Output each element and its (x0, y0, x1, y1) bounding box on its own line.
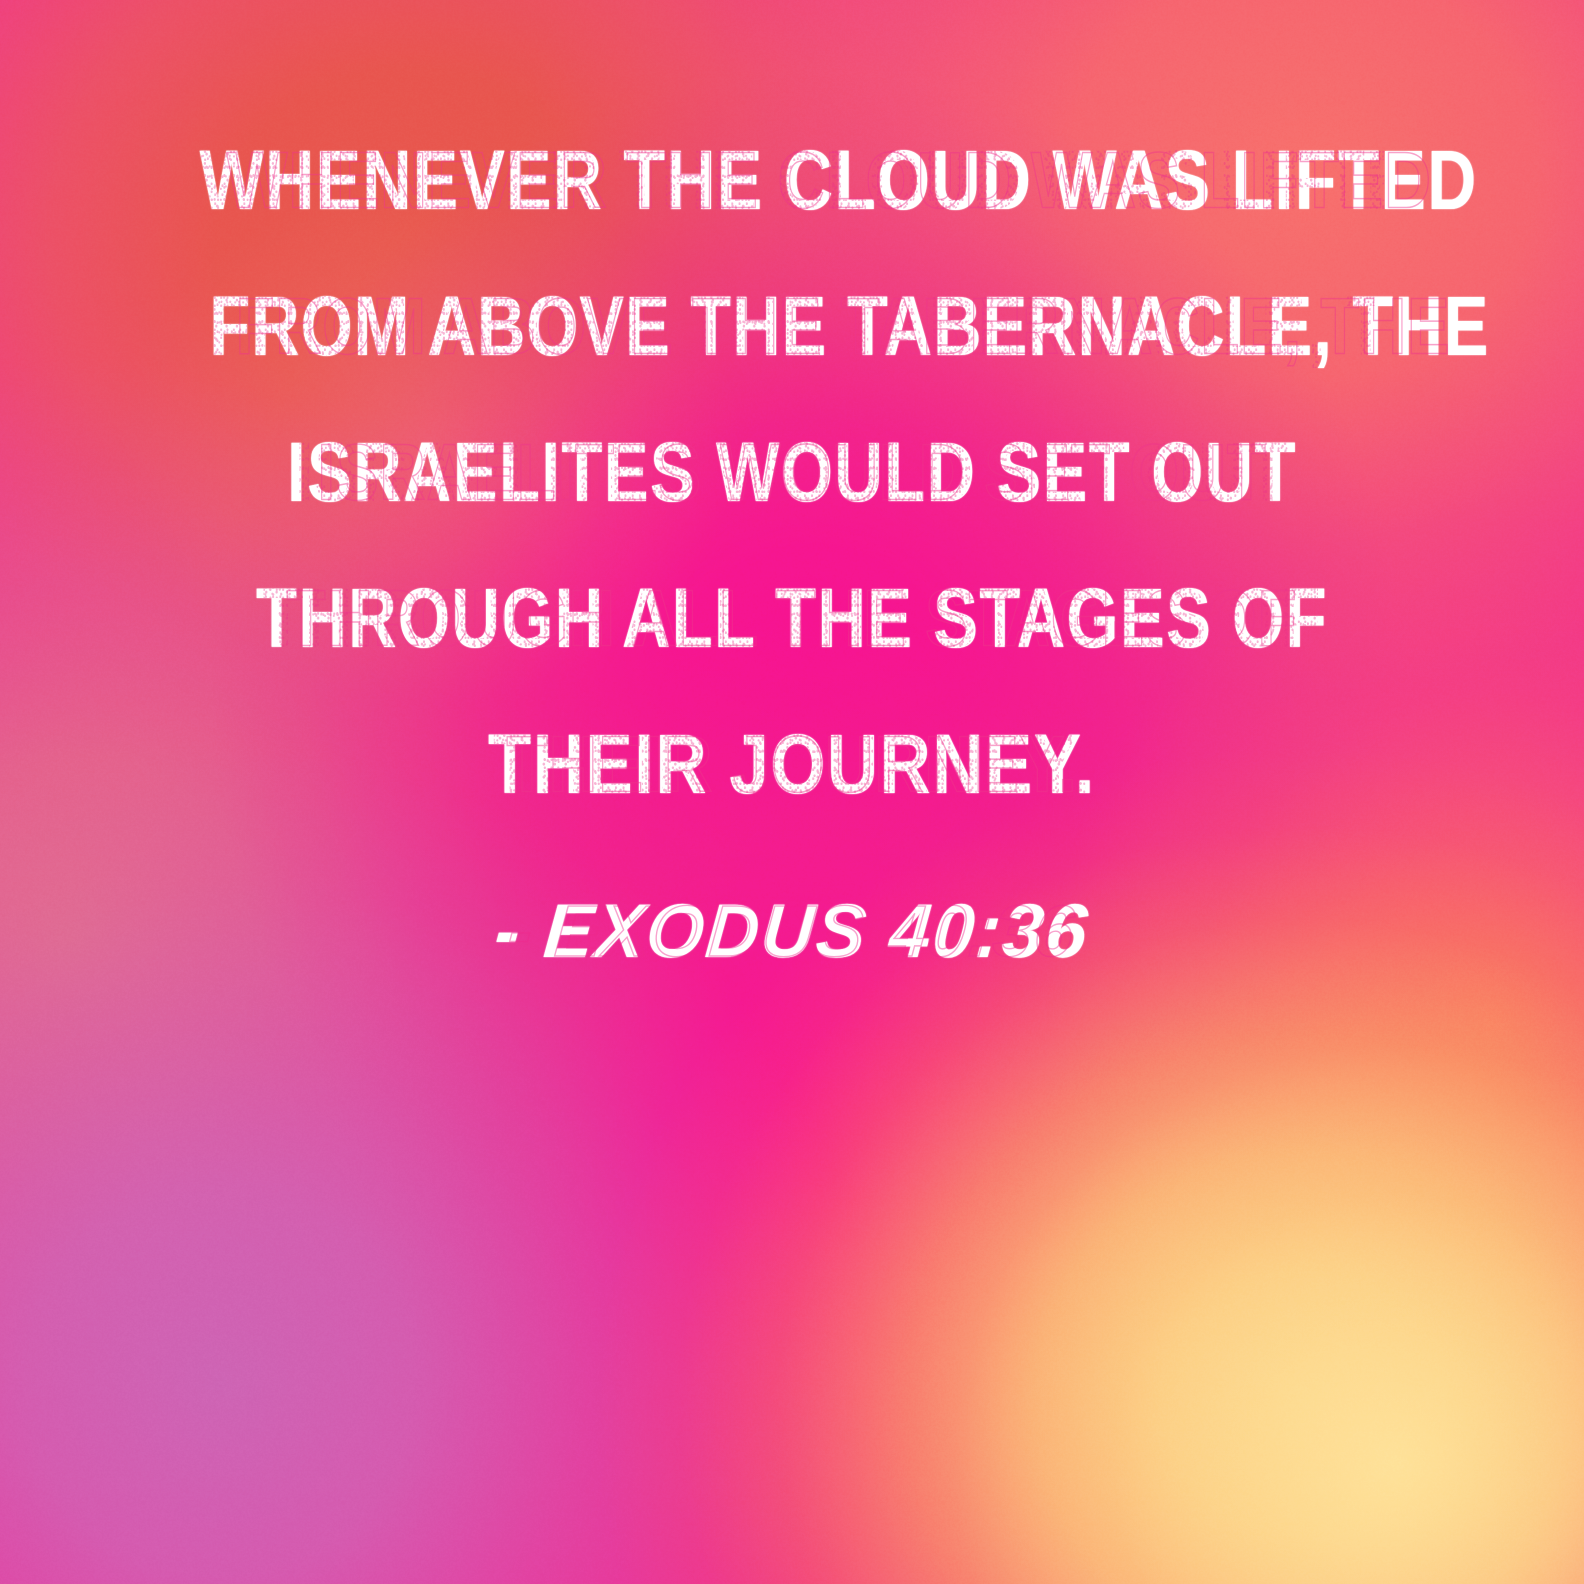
verse-line-2: FROM ABOVE THE TABERNACLE, THE FROM ABOV… (209, 284, 1374, 368)
verse-line-2-text: FROM ABOVE THE TABERNACLE, THE (209, 284, 1489, 368)
verse-line-5: THEIR JOURNEY. THEIR JOURNEY. THEIR JOUR… (175, 722, 1409, 806)
verse-line-1: WHENEVER THE CLOUD WAS LIFTED WHENEVER T… (200, 138, 1385, 222)
verse-line-4: THROUGH ALL THE STAGES OF THROUGH ALL TH… (207, 576, 1376, 660)
verse-line-5-text: THEIR JOURNEY. (488, 722, 1096, 806)
verse-line-1-text: WHENEVER THE CLOUD WAS LIFTED (200, 138, 1478, 222)
verse-canvas: WHENEVER THE CLOUD WAS LIFTED WHENEVER T… (0, 0, 1584, 1584)
verse-text-block: WHENEVER THE CLOUD WAS LIFTED WHENEVER T… (0, 138, 1584, 970)
verse-line-3-text: ISRAELITES WOULD SET OUT (287, 430, 1297, 514)
verse-reference: - EXODUS 40:36 - EXODUS 40:36 (80, 894, 1505, 970)
verse-reference-text: - EXODUS 40:36 (492, 894, 1092, 970)
verse-line-4-text: THROUGH ALL THE STAGES OF (256, 576, 1328, 660)
verse-line-3: ISRAELITES WOULD SET OUT ISRAELITES WOUL… (209, 430, 1376, 514)
